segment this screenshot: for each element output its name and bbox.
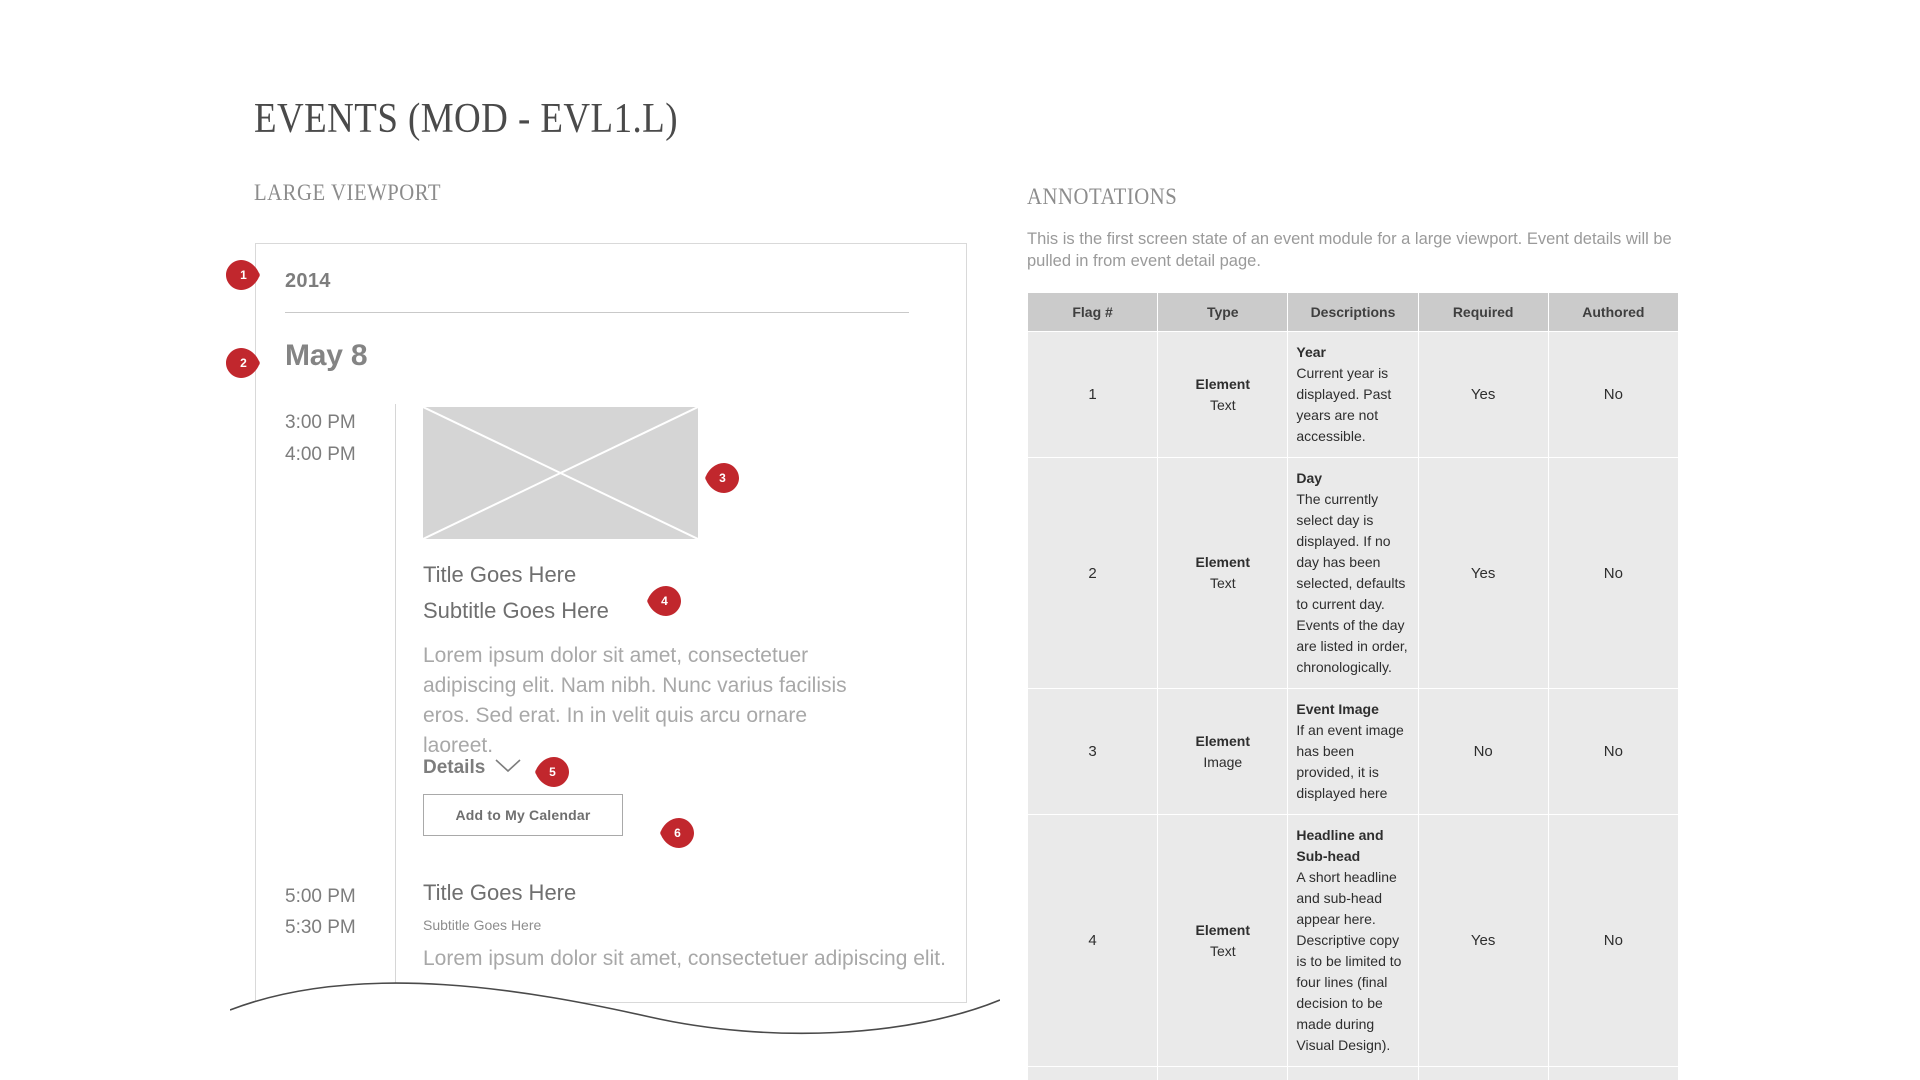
cell-type-sub: Text (1166, 941, 1279, 962)
cell-flag: 3 (1028, 689, 1158, 815)
event1-divider (395, 404, 396, 882)
details-link[interactable]: Details (423, 757, 521, 779)
flag-marker-2-number: 2 (226, 348, 260, 378)
event2-start-time: 5:00 PM (285, 881, 356, 912)
cell-description-body: The currently select day is displayed. I… (1296, 489, 1409, 678)
cell-authored: No (1548, 1067, 1678, 1080)
page-title: EVENTS (MOD - EVL1.L) (254, 95, 678, 143)
chevron-down-icon (495, 757, 521, 779)
cell-description-title: Year (1296, 342, 1409, 363)
flag-marker-6-number: 6 (660, 818, 694, 848)
table-header-row: Flag # Type Descriptions Required Author… (1028, 293, 1679, 332)
table-row: 2 Element Text Day The currently select … (1028, 458, 1679, 689)
cell-description-body: Current year is displayed. Past years ar… (1296, 363, 1409, 447)
table-row: 3 Element Image Event Image If an event … (1028, 689, 1679, 815)
event1-description: Lorem ipsum dolor sit amet, consectetuer… (423, 641, 861, 761)
event2-divider (395, 876, 396, 1003)
cell-description-title: Headline and Sub-head (1296, 825, 1409, 867)
wireframe-panel: 2014 May 8 3:00 PM 4:00 PM Title Goes He… (255, 243, 967, 1003)
annotations-description: This is the first screen state of an eve… (1027, 228, 1687, 272)
cell-type-sub: Text (1166, 395, 1279, 416)
table-row: 1 Element Text Year Current year is disp… (1028, 332, 1679, 458)
details-label: Details (423, 757, 485, 779)
cell-description-body: A short headline and sub-head appear her… (1296, 867, 1409, 1056)
event2-end-time: 5:30 PM (285, 912, 356, 943)
flag-marker-1[interactable]: 1 (226, 260, 260, 290)
annotations-table: Flag # Type Descriptions Required Author… (1027, 292, 1679, 1080)
cell-description: Event Image If an event image has been p… (1288, 689, 1418, 815)
flag-marker-3-number: 3 (705, 463, 739, 493)
cell-authored: No (1548, 815, 1678, 1067)
year-divider (285, 312, 909, 313)
event1-times: 3:00 PM 4:00 PM (285, 407, 356, 471)
event2-title: Title Goes Here (423, 880, 576, 906)
cell-type-main: Element (1166, 920, 1279, 941)
cell-type-main: Element (1166, 374, 1279, 395)
cell-type: Element Text Link (1158, 1067, 1288, 1080)
cell-description-body: If an event image has been provided, it … (1296, 720, 1409, 804)
cell-flag: 4 (1028, 815, 1158, 1067)
cell-flag: 2 (1028, 458, 1158, 689)
cell-required: Yes (1418, 1067, 1548, 1080)
event1-subtitle: Subtitle Goes Here (423, 598, 609, 624)
cell-description: Year Current year is displayed. Past yea… (1288, 332, 1418, 458)
add-to-calendar-button[interactable]: Add to My Calendar (423, 794, 623, 836)
cell-flag: 5 (1028, 1067, 1158, 1080)
annotations-heading: ANNOTATIONS (1027, 184, 1177, 210)
flag-marker-4-number: 4 (647, 586, 681, 616)
flag-marker-5-number: 5 (535, 757, 569, 787)
cell-description: Day The currently select day is displaye… (1288, 458, 1418, 689)
flag-marker-1-number: 1 (226, 260, 260, 290)
viewport-label: LARGE VIEWPORT (254, 180, 441, 206)
cell-type-sub: Text (1166, 573, 1279, 594)
column-header-authored: Authored (1548, 293, 1678, 332)
column-header-required: Required (1418, 293, 1548, 332)
column-header-type: Type (1158, 293, 1288, 332)
cell-type-main: Element (1166, 552, 1279, 573)
cell-type: Element Text (1158, 815, 1288, 1067)
cell-description: Headline and Sub-head A short headline a… (1288, 815, 1418, 1067)
column-header-flag: Flag # (1028, 293, 1158, 332)
cell-description-title: Event Image (1296, 699, 1409, 720)
flag-marker-2[interactable]: 2 (226, 348, 260, 378)
event1-title: Title Goes Here (423, 562, 576, 588)
cell-authored: No (1548, 332, 1678, 458)
cell-type-main: Element (1166, 731, 1279, 752)
event2-description: Lorem ipsum dolor sit amet, consectetuer… (423, 944, 967, 974)
column-header-descriptions: Descriptions (1288, 293, 1418, 332)
flag-marker-4[interactable]: 4 (647, 586, 681, 616)
flag-marker-5[interactable]: 5 (535, 757, 569, 787)
event-image-placeholder (423, 407, 698, 539)
cell-flag: 1 (1028, 332, 1158, 458)
cell-authored: No (1548, 458, 1678, 689)
cell-description: Details On tap/click of details, full de… (1288, 1067, 1418, 1080)
cell-type: Element Text (1158, 332, 1288, 458)
cell-required: No (1418, 689, 1548, 815)
cell-type: Element Image (1158, 689, 1288, 815)
flag-marker-6[interactable]: 6 (660, 818, 694, 848)
cell-authored: No (1548, 689, 1678, 815)
cell-type: Element Text (1158, 458, 1288, 689)
year-label: 2014 (285, 270, 331, 293)
table-row: 4 Element Text Headline and Sub-head A s… (1028, 815, 1679, 1067)
event2-times: 5:00 PM 5:30 PM (285, 881, 356, 943)
flag-marker-3[interactable]: 3 (705, 463, 739, 493)
event1-end-time: 4:00 PM (285, 439, 356, 471)
cell-required: Yes (1418, 458, 1548, 689)
table-row: 5 Element Text Link Details On tap/click… (1028, 1067, 1679, 1080)
day-label: May 8 (285, 339, 367, 373)
cell-required: Yes (1418, 815, 1548, 1067)
cell-required: Yes (1418, 332, 1548, 458)
page-root: EVENTS (MOD - EVL1.L) LARGE VIEWPORT ANN… (0, 0, 1920, 1080)
cell-type-sub: Image (1166, 752, 1279, 773)
event1-start-time: 3:00 PM (285, 407, 356, 439)
event2-subtitle: Subtitle Goes Here (423, 917, 541, 933)
cell-description-title: Day (1296, 468, 1409, 489)
